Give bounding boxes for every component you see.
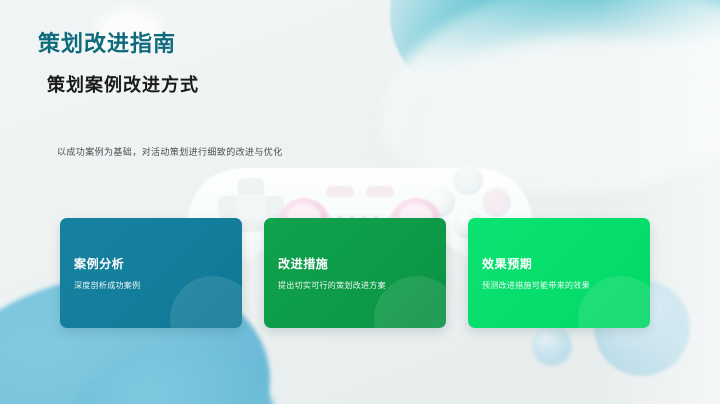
slide-canvas: 策划改进指南 策划案例改进方式 以成功案例为基础，对活动策划进行细致的改进与优化… — [0, 0, 720, 404]
top-right-blob-mask — [380, 0, 720, 190]
card-description: 提出切实可行的策划改进方案 — [278, 280, 432, 291]
page-title: 策划改进指南 — [38, 26, 176, 58]
card-improvement-measures[interactable]: 改进措施 提出切实可行的策划改进方案 — [264, 218, 446, 328]
card-group: 案例分析 深度剖析成功案例 改进措施 提出切实可行的策划改进方案 效果预期 预测… — [60, 218, 650, 328]
card-title: 案例分析 — [74, 255, 228, 272]
card-title: 效果预期 — [482, 255, 636, 272]
top-right-blob-mask-secondary — [420, 40, 720, 190]
bottom-right-small-circle — [532, 326, 572, 366]
background-decoration-layer — [0, 0, 720, 404]
page-body-text: 以成功案例为基础，对活动策划进行细致的改进与优化 — [57, 145, 283, 158]
card-title: 改进措施 — [278, 255, 432, 272]
card-case-analysis[interactable]: 案例分析 深度剖析成功案例 — [60, 218, 242, 328]
bottom-left-blue-blob-secondary — [60, 344, 280, 404]
card-description: 深度剖析成功案例 — [74, 280, 228, 291]
page-subtitle: 策划案例改进方式 — [47, 71, 199, 97]
top-right-teal-blob — [390, 0, 720, 150]
right-side-white-veil — [600, 0, 720, 404]
card-description: 预测改进措施可能带来的效果 — [482, 280, 636, 291]
card-expected-effect[interactable]: 效果预期 预测改进措施可能带来的效果 — [468, 218, 650, 328]
